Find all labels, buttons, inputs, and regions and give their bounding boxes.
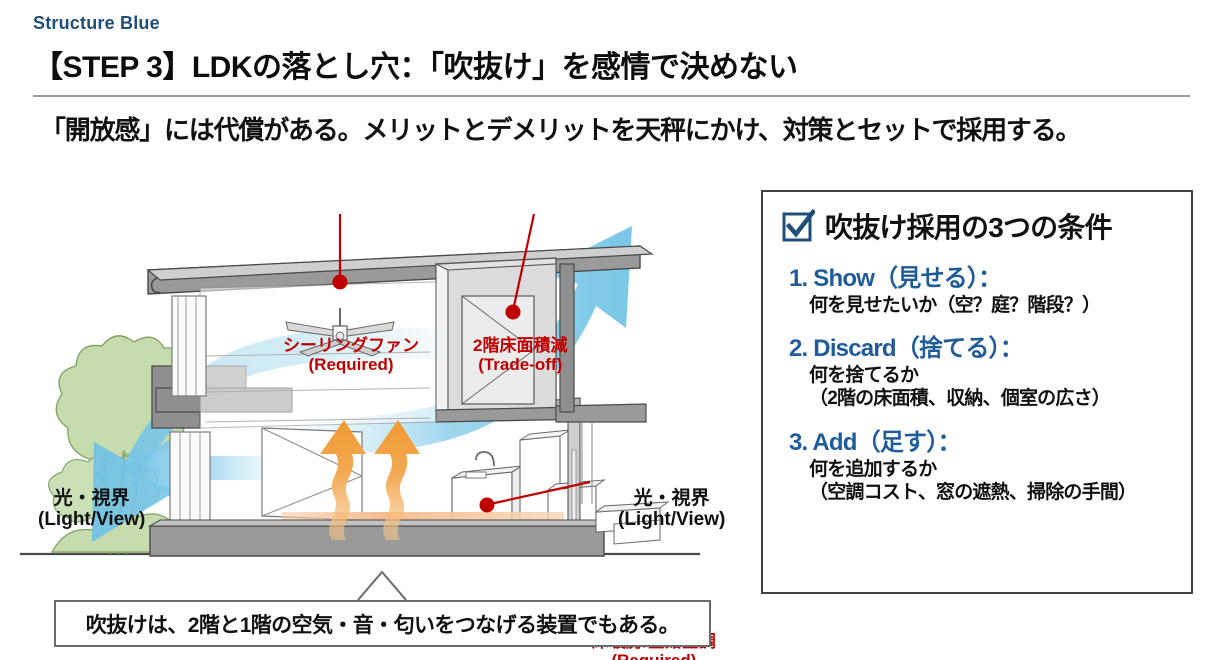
title-divider <box>33 95 1190 97</box>
callout-leader-ceiling-fan <box>333 214 348 290</box>
condition-3-line-2: （空調コスト、窓の遮熱、掃除の手間） <box>809 481 1175 504</box>
condition-1-line-1: 何を見せたいか（空？庭？階段？） <box>809 294 1175 317</box>
first-floor-left-window <box>170 432 210 528</box>
caption-box: 吹抜けは、2階と1階の空気・音・匂いをつなげる装置でもある。 <box>54 600 711 647</box>
condition-item-2: 2. Discard（捨てる）： 何を捨てるか （2階の床面積、収納、個室の広さ… <box>781 328 1175 410</box>
callout-floor-heating-en: (Required) <box>592 651 716 660</box>
condition-1-head: 1. Show（見せる）： <box>781 258 1175 293</box>
duct-post <box>568 416 580 530</box>
page-title: 【STEP 3】LDKの落とし穴：「吹抜け」を感情で決めない <box>33 42 798 86</box>
callout-floor-area: 2階床面積減 (Trade-off) <box>473 336 567 374</box>
brand-label: Structure Blue <box>33 13 160 34</box>
caption-text: 吹抜けは、2階と1階の空気・音・匂いをつなげる装置でもある。 <box>86 609 679 639</box>
conditions-panel-title: 吹抜け採用の3つの条件 <box>825 206 1112 246</box>
page-subtitle: 「開放感」には代償がある。メリットとデメリットを天秤にかけ、対策とセットで採用す… <box>40 110 1080 147</box>
house-section-diagram: シーリングファン (Required) 2階床面積減 (Trade-off) 光… <box>0 160 750 600</box>
condition-3-body: 何を追加するか （空調コスト、窓の遮熱、掃除の手間） <box>781 458 1175 504</box>
label-light-view-left-jp: 光・視界 <box>38 488 145 509</box>
condition-item-1: 1. Show（見せる）： 何を見せたいか（空？庭？階段？） <box>781 258 1175 317</box>
conditions-panel-header: 吹抜け採用の3つの条件 <box>781 206 1175 246</box>
callout-floor-area-jp: 2階床面積減 <box>473 336 567 355</box>
callout-ceiling-fan-en: (Required) <box>283 355 419 374</box>
left-tall-window <box>172 296 206 396</box>
label-light-view-left: 光・視界 (Light/View) <box>38 488 145 531</box>
caption-pointer <box>356 570 408 602</box>
condition-2-body: 何を捨てるか （2階の床面積、収納、個室の広さ） <box>781 364 1175 410</box>
condition-2-head: 2. Discard（捨てる）： <box>781 328 1175 363</box>
label-light-view-right: 光・視界 (Light/View) <box>618 488 725 531</box>
foundation-slab <box>150 526 604 556</box>
checkbox-checked-icon <box>781 209 815 243</box>
label-light-view-left-en: (Light/View) <box>38 509 145 530</box>
callout-floor-area-en: (Trade-off) <box>473 355 567 374</box>
label-light-view-right-jp: 光・視界 <box>618 488 725 509</box>
callout-ceiling-fan: シーリングファン (Required) <box>283 336 419 374</box>
callout-ceiling-fan-jp: シーリングファン <box>283 336 419 355</box>
condition-item-3: 3. Add（足す）： 何を追加するか （空調コスト、窓の遮熱、掃除の手間） <box>781 422 1175 504</box>
label-light-view-right-en: (Light/View) <box>618 509 725 530</box>
condition-2-line-2: （2階の床面積、収納、個室の広さ） <box>809 387 1175 410</box>
condition-3-line-1: 何を追加するか <box>809 458 1175 481</box>
condition-3-head: 3. Add（足す）： <box>781 422 1175 457</box>
slide-canvas: Structure Blue 【STEP 3】LDKの落とし穴：「吹抜け」を感情… <box>0 0 1223 660</box>
house-diagram-svg <box>0 160 750 600</box>
conditions-panel: 吹抜け採用の3つの条件 1. Show（見せる）： 何を見せたいか（空？庭？階段… <box>761 190 1193 594</box>
condition-2-line-1: 何を捨てるか <box>809 364 1175 387</box>
condition-1-body: 何を見せたいか（空？庭？階段？） <box>781 294 1175 317</box>
